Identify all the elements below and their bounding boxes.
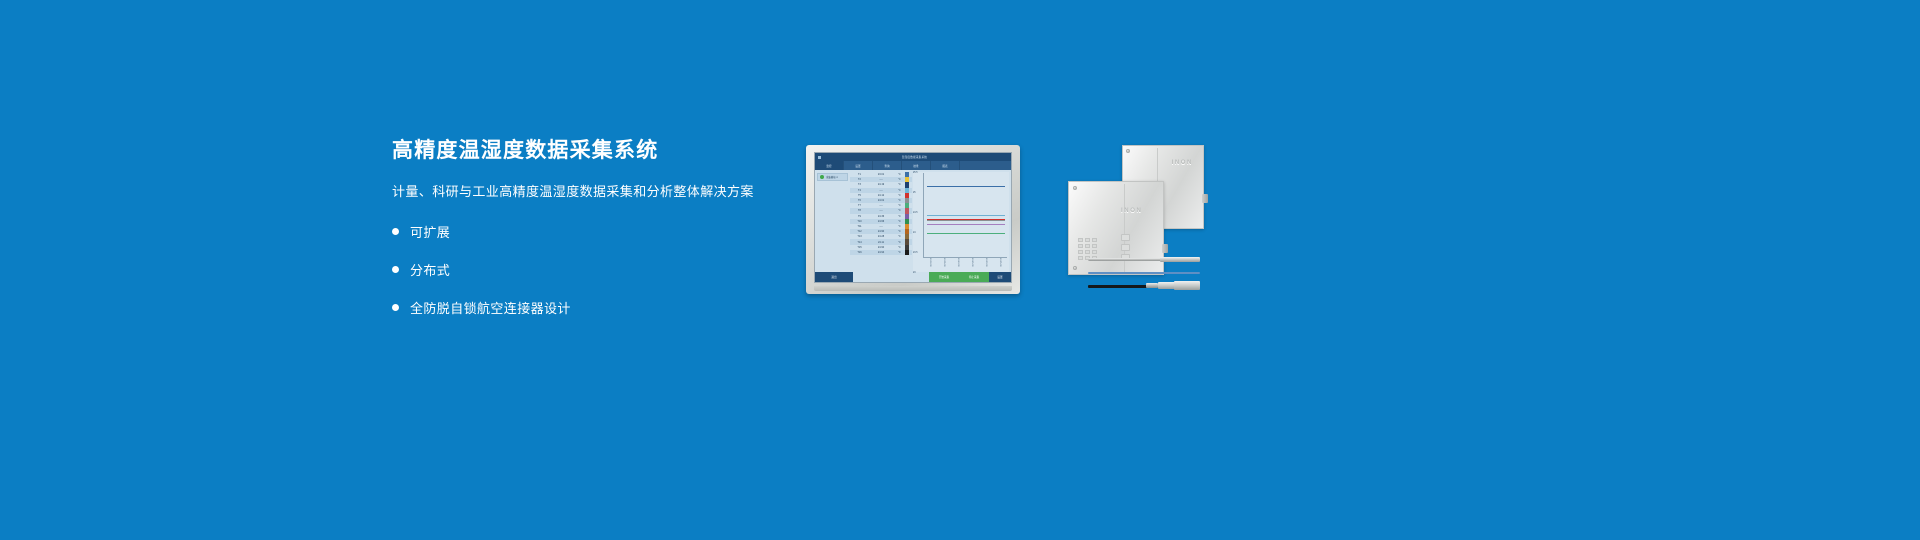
panel-pc-screen: 温湿度数据采集系统 监控 设置 查询 校准 报表 采集模块-1	[814, 152, 1012, 283]
app-title: 温湿度数据采集系统	[821, 155, 1008, 159]
channel-color-swatch	[905, 250, 909, 255]
chart-x-axis: 10:00:0010:05:0010:10:0010:15:0010:20:00…	[923, 258, 1007, 271]
channel-unit: ℃	[894, 215, 905, 218]
app-tabbar: 监控 设置 查询 校准 报表	[815, 161, 1011, 170]
panel-pc-device: 温湿度数据采集系统 监控 设置 查询 校准 报表 采集模块-1	[806, 145, 1020, 294]
feature-label: 分布式	[410, 260, 450, 279]
channel-value: ----	[868, 178, 894, 181]
channel-table: T123.01℃T2----℃T324.19℃T4----℃T524.12℃T6…	[850, 170, 912, 272]
bullet-dot-icon	[392, 228, 399, 235]
channel-id: T11	[851, 225, 868, 228]
channel-id: T7	[851, 204, 868, 207]
footer-spacer	[853, 272, 929, 282]
channel-unit: ℃	[894, 209, 905, 212]
channel-value: 24.01	[868, 199, 894, 202]
channel-unit: ℃	[894, 235, 905, 238]
channel-unit: ℃	[894, 225, 905, 228]
channel-unit: ℃	[894, 199, 905, 202]
screw-icon	[1073, 186, 1077, 190]
channel-id: T4	[851, 189, 868, 192]
channel-value: 24.36	[868, 215, 894, 218]
tab-settings[interactable]: 设置	[844, 161, 873, 170]
channel-id: T9	[851, 215, 868, 218]
chart-series-line	[927, 233, 1005, 234]
settings-button[interactable]: 设置	[989, 272, 1011, 282]
channel-unit: ℃	[894, 178, 905, 181]
list-item: 全防脱自锁航空连接器设计	[392, 295, 812, 320]
channel-id: T12	[851, 230, 868, 233]
y-tick-label: 25.5	[913, 172, 917, 174]
y-tick-label: 25	[913, 192, 916, 194]
channel-unit: ℃	[894, 189, 905, 192]
channel-value: 24.19	[868, 183, 894, 186]
channel-unit: ℃	[894, 194, 905, 197]
channel-id: T15	[851, 246, 868, 249]
channel-value: ----	[868, 209, 894, 212]
list-item: 分布式	[392, 257, 812, 282]
channel-value: 24.94	[868, 251, 894, 254]
y-tick-label: 24	[913, 232, 916, 234]
connector-port	[1162, 244, 1168, 253]
channel-id: T2	[851, 178, 868, 181]
channel-value: ----	[868, 225, 894, 228]
channel-value: ----	[868, 204, 894, 207]
table-row[interactable]: T1624.94℃	[850, 250, 912, 255]
app-body: 采集模块-1 T123.01℃T2----℃T324.19℃T4----℃T52…	[815, 170, 1011, 272]
x-tick-label: 10:10:00	[957, 258, 959, 271]
x-tick-label: 10:20:00	[985, 258, 987, 271]
device-tree-item[interactable]: 采集模块-1	[817, 173, 848, 181]
list-item: 可扩展	[392, 219, 812, 244]
channel-value: 24.90	[868, 246, 894, 249]
channel-unit: ℃	[894, 204, 905, 207]
channel-id: T5	[851, 194, 868, 197]
exit-button[interactable]: 退出	[815, 272, 853, 282]
product-banner: 高精度温湿度数据采集系统 计量、科研与工业高精度温湿度数据采集和分析整体解决方案…	[0, 0, 1920, 540]
channel-value: 24.11	[868, 241, 894, 244]
x-tick-label: 10:00:00	[929, 258, 931, 271]
channel-unit: ℃	[894, 246, 905, 249]
channel-value: 24.66	[868, 220, 894, 223]
page-subtitle: 计量、科研与工业高精度温湿度数据采集和分析整体解决方案	[392, 181, 812, 200]
tab-calibration[interactable]: 校准	[902, 161, 931, 170]
bullet-dot-icon	[392, 266, 399, 273]
screw-icon	[1126, 149, 1130, 153]
channel-unit: ℃	[894, 183, 905, 186]
channel-unit: ℃	[894, 230, 905, 233]
channel-id: T1	[851, 173, 868, 176]
channel-id: T8	[851, 209, 868, 212]
y-tick-label: 23	[913, 272, 916, 274]
tab-query[interactable]: 查询	[873, 161, 902, 170]
module-brand-rear: INON	[1172, 160, 1193, 166]
tab-monitor[interactable]: 监控	[815, 161, 844, 170]
device-name: 采集模块-1	[826, 175, 838, 179]
x-tick-label: 10:15:00	[971, 258, 973, 271]
chart-series-line	[927, 186, 1005, 187]
channel-id: T13	[851, 235, 868, 238]
x-tick-label: 10:25:00	[999, 258, 1001, 271]
feature-label: 可扩展	[410, 222, 450, 241]
chart-series-line	[927, 224, 1005, 225]
channel-id: T16	[851, 251, 868, 254]
realtime-chart: 25.52524.52423.523 10:00:0010:05:0010:10…	[913, 172, 1009, 272]
bullet-dot-icon	[392, 304, 399, 311]
device-tree-panel: 采集模块-1	[815, 170, 850, 272]
feature-label: 全防脱自锁航空连接器设计	[410, 298, 571, 317]
banner-copy: 高精度温湿度数据采集系统 计量、科研与工业高精度温湿度数据采集和分析整体解决方案…	[392, 138, 812, 333]
tab-report[interactable]: 报表	[931, 161, 960, 170]
page-title: 高精度温湿度数据采集系统	[392, 138, 812, 164]
channel-unit: ℃	[894, 241, 905, 244]
channel-value: 24.90	[868, 230, 894, 233]
y-tick-label: 24.5	[913, 212, 917, 214]
channel-id: T14	[851, 241, 868, 244]
module-brand-front: INON	[1121, 208, 1142, 214]
chart-series-line	[927, 215, 1005, 216]
stop-acquisition-button[interactable]: 停止采集	[959, 272, 989, 282]
chart-series-line	[927, 220, 1005, 221]
app-titlebar: 温湿度数据采集系统	[815, 153, 1011, 161]
panel-pc-bezel: 温湿度数据采集系统 监控 设置 查询 校准 报表 采集模块-1	[806, 145, 1020, 294]
chart-plot-area	[923, 173, 1007, 258]
screw-icon	[1073, 266, 1077, 270]
channel-unit: ℃	[894, 220, 905, 223]
channel-id: T6	[851, 199, 868, 202]
channel-value: 23.01	[868, 173, 894, 176]
y-tick-label: 23.5	[913, 252, 917, 254]
channel-value: ----	[868, 189, 894, 192]
chart-y-axis: 25.52524.52423.523	[913, 172, 922, 272]
channel-value: 24.28	[868, 235, 894, 238]
sensor-probes	[1088, 255, 1200, 297]
channel-unit: ℃	[894, 173, 905, 176]
channel-unit: ℃	[894, 251, 905, 254]
connector-port	[1202, 194, 1208, 203]
chart-series-line	[927, 219, 1005, 220]
feature-list: 可扩展 分布式 全防脱自锁航空连接器设计	[392, 219, 812, 320]
start-acquisition-button[interactable]: 开始采集	[929, 272, 959, 282]
x-tick-label: 10:05:00	[943, 258, 945, 271]
status-online-icon	[820, 175, 824, 179]
channel-id: T3	[851, 183, 868, 186]
channel-value: 24.12	[868, 194, 894, 197]
channel-id: T10	[851, 220, 868, 223]
